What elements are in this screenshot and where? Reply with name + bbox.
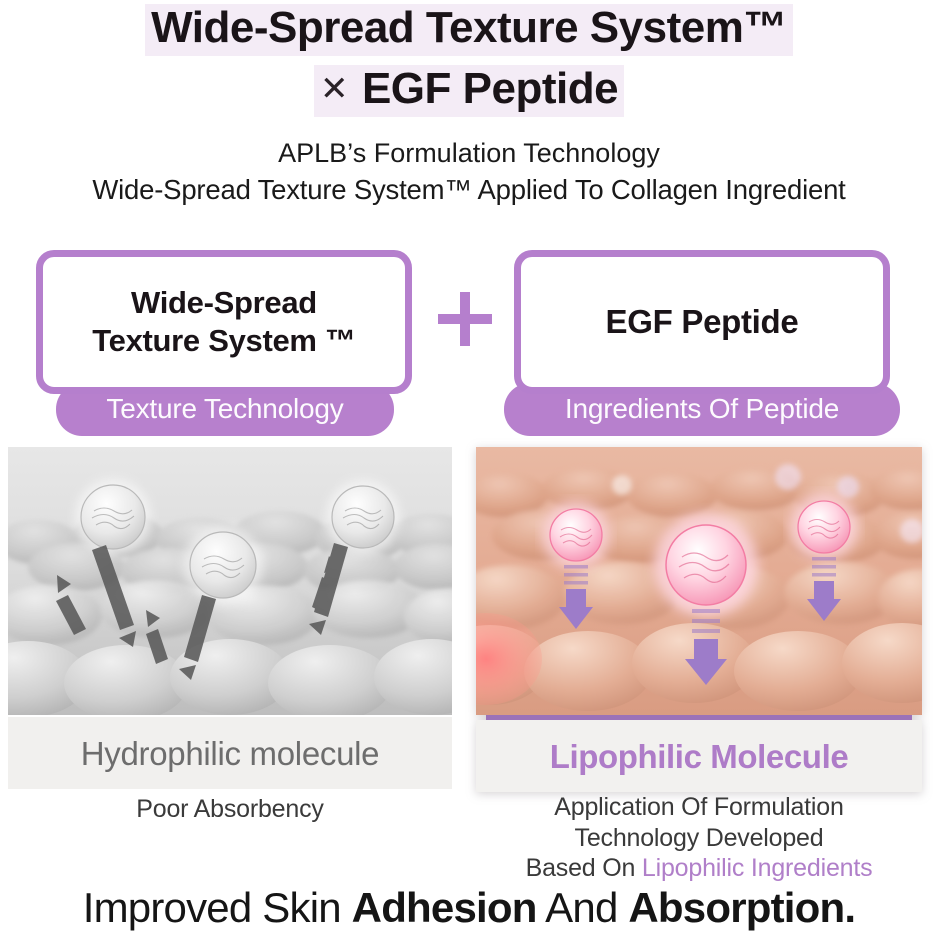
lipophilic-subcaption-line-3-plain: Based On bbox=[526, 854, 642, 882]
sub-captions: Poor Absorbency Application Of Formulati… bbox=[0, 790, 938, 880]
subtitle-line-1: APLB’s Formulation Technology bbox=[0, 136, 938, 172]
texture-technology-card: Texture Technology Wide-Spread Texture S… bbox=[36, 250, 414, 436]
egf-peptide-pill-label: Ingredients Of Peptide bbox=[565, 395, 839, 425]
title-line-1-text: Wide-Spread Texture System™ bbox=[145, 4, 793, 56]
lipophilic-panel: Lipophilic Molecule bbox=[476, 447, 922, 792]
subtitle-line-2: Wide-Spread Texture System™ Applied To C… bbox=[0, 172, 938, 209]
footer-statement: Improved Skin Adhesion And Absorption. bbox=[0, 884, 938, 932]
lipophilic-subcaption-line-2: Technology Developed bbox=[575, 824, 824, 852]
footer-part-1: Improved Skin bbox=[83, 884, 352, 931]
lipophilic-caption: Lipophilic Molecule bbox=[550, 740, 849, 773]
formula-row: Texture Technology Wide-Spread Texture S… bbox=[0, 246, 938, 436]
egf-peptide-card: Ingredients Of Peptide EGF Peptide bbox=[504, 250, 900, 436]
hydrophilic-subcaption: Poor Absorbency bbox=[8, 795, 452, 824]
texture-technology-pill-label: Texture Technology bbox=[106, 395, 343, 425]
hydrophilic-panel: Hydrophilic molecule bbox=[8, 447, 452, 792]
lipophilic-subcaption-line-3-accent: Lipophilic Ingredients bbox=[642, 854, 872, 882]
lipophilic-subcaption: Application Of Formulation Technology De… bbox=[476, 792, 922, 884]
egf-peptide-frame: EGF Peptide bbox=[514, 250, 890, 394]
hydrophilic-caption: Hydrophilic molecule bbox=[81, 737, 379, 770]
texture-frame-line-2: Texture System ™ bbox=[92, 323, 355, 358]
title-line-2: ✕EGF Peptide bbox=[0, 65, 938, 117]
plus-icon bbox=[434, 288, 496, 350]
lipophilic-illustration-svg bbox=[476, 447, 922, 715]
title-line-1: Wide-Spread Texture System™ bbox=[0, 4, 938, 56]
title-line-2-label: EGF Peptide bbox=[362, 64, 618, 113]
plus-icon-vertical bbox=[460, 292, 470, 346]
lipophilic-accent-rule bbox=[486, 715, 912, 720]
footer-bold-adhesion: Adhesion bbox=[352, 884, 537, 931]
lipophilic-subcaption-line-1: Application Of Formulation bbox=[554, 793, 843, 821]
title-block: Wide-Spread Texture System™ ✕EGF Peptide bbox=[0, 0, 938, 117]
comparison-panels: Hydrophilic molecule bbox=[0, 447, 938, 792]
subtitle-block: APLB’s Formulation Technology Wide-Sprea… bbox=[0, 136, 938, 208]
footer-bold-absorption: Absorption. bbox=[628, 884, 855, 931]
texture-frame-line-1: Wide-Spread bbox=[131, 285, 317, 320]
cross-icon: ✕ bbox=[320, 72, 348, 106]
footer-part-2: And bbox=[537, 884, 629, 931]
texture-technology-frame-text: Wide-Spread Texture System ™ bbox=[86, 284, 361, 360]
lipophilic-caption-bar: Lipophilic Molecule bbox=[476, 720, 922, 792]
infographic-page: Wide-Spread Texture System™ ✕EGF Peptide… bbox=[0, 0, 938, 938]
lipophilic-illustration bbox=[476, 447, 922, 715]
hydrophilic-caption-bar: Hydrophilic molecule bbox=[8, 717, 452, 789]
egf-peptide-frame-text: EGF Peptide bbox=[600, 302, 805, 342]
hydrophilic-illustration-svg bbox=[8, 447, 452, 715]
title-line-2-text: ✕EGF Peptide bbox=[314, 65, 624, 117]
texture-technology-frame: Wide-Spread Texture System ™ bbox=[36, 250, 412, 394]
hydrophilic-illustration bbox=[8, 447, 452, 715]
